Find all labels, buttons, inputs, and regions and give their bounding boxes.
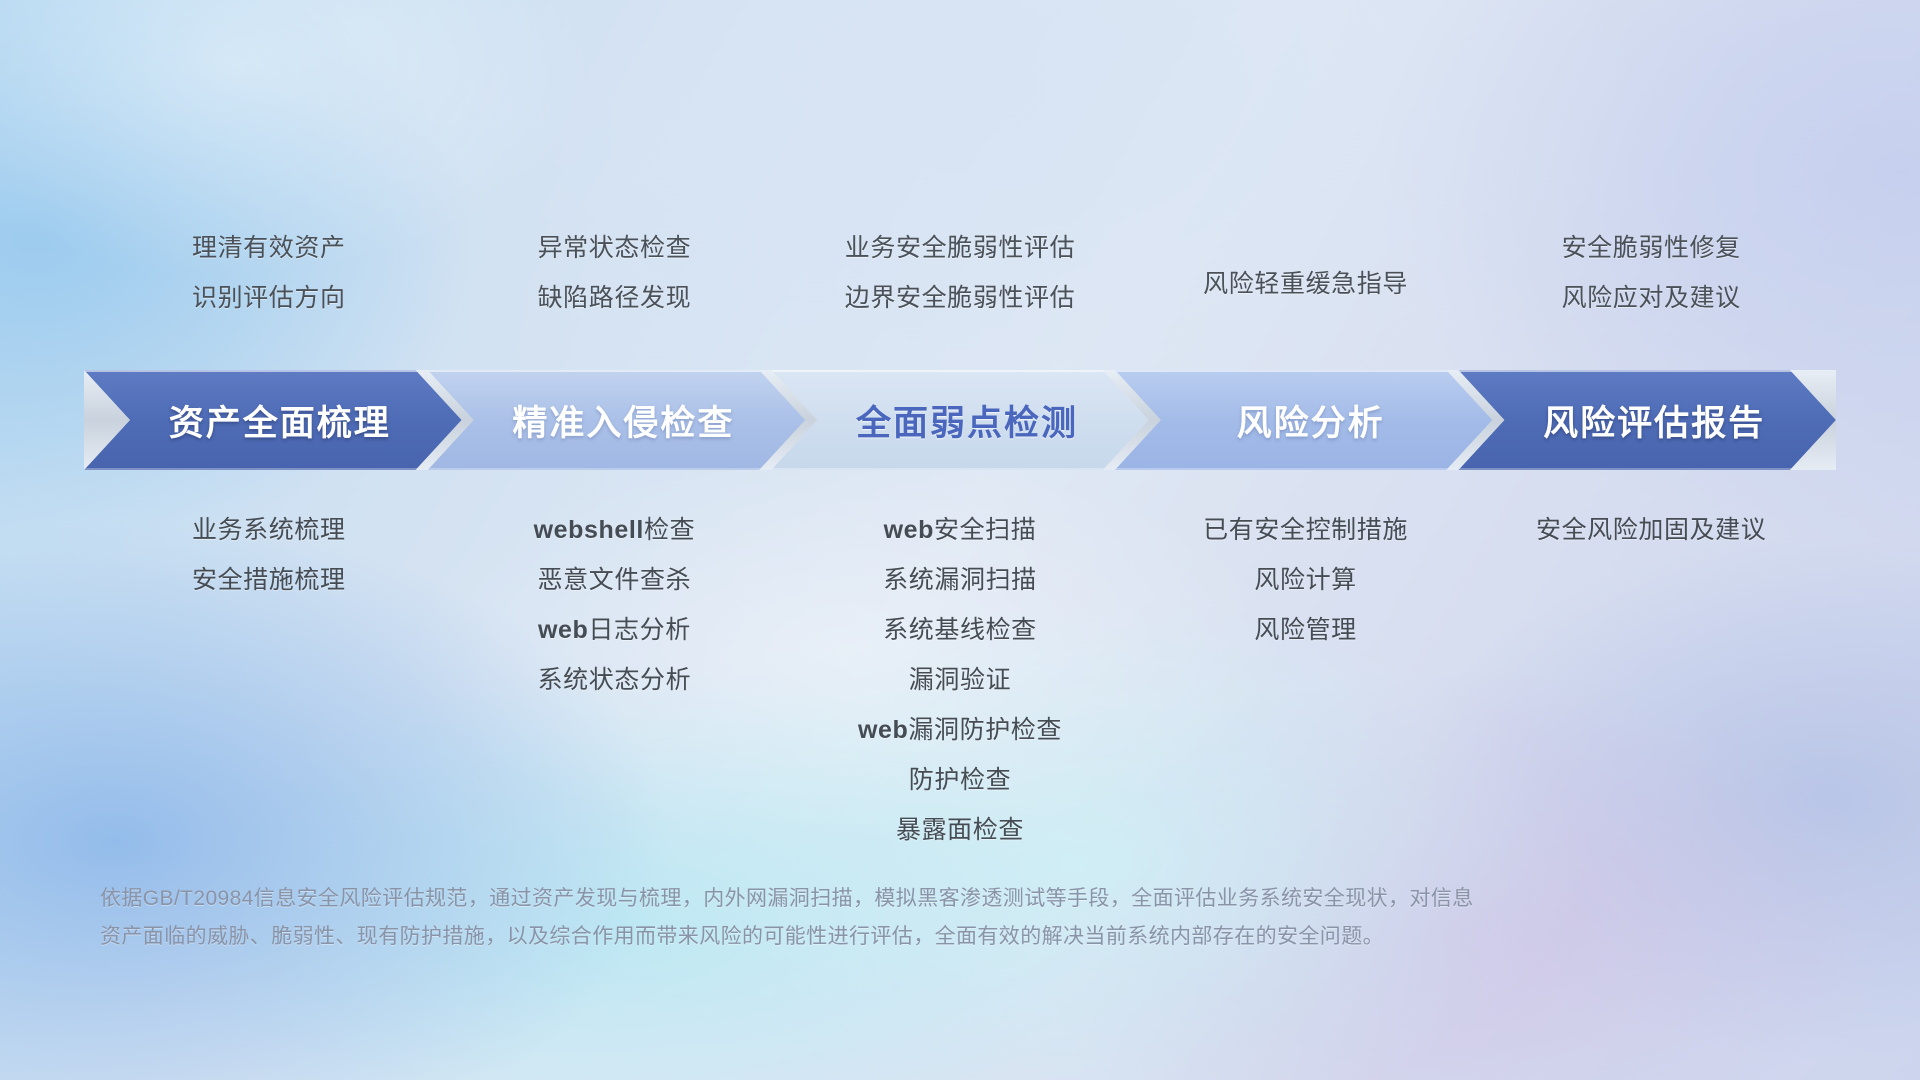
- caption: 安全脆弱性修复: [1562, 228, 1741, 264]
- caption: 安全措施梳理: [192, 560, 346, 596]
- caption: 理清有效资产: [192, 228, 346, 264]
- caption-rest: 安全措施梳理: [192, 566, 346, 594]
- stage-title: 风险分析: [1115, 395, 1493, 446]
- caption-rest: 漏洞验证: [909, 666, 1011, 694]
- footer-line-1: 依据GB/T20984信息安全风险评估规范，通过资产发现与梳理，内外网漏洞扫描，…: [100, 880, 1820, 918]
- caption: 风险管理: [1254, 610, 1356, 646]
- caption: 暴露面检查: [896, 810, 1024, 846]
- top-captions-stage-2: 异常状态检查 缺陷路径发现: [442, 228, 788, 314]
- bottom-captions-stage-2: webshell检查 恶意文件查杀 web日志分析 系统状态分析: [442, 510, 788, 696]
- footer-line-2: 资产面临的威胁、脆弱性、现有防护措施，以及综合作用而带来风险的可能性进行评估，全…: [100, 918, 1820, 956]
- top-captions-stage-4: 风险轻重缓急指导: [1133, 228, 1479, 314]
- caption: 异常状态检查: [538, 228, 692, 264]
- caption-rest: 防护检查: [909, 766, 1011, 794]
- caption-rest: 安全扫描: [934, 516, 1036, 544]
- top-captions-stage-5: 安全脆弱性修复 风险应对及建议: [1478, 228, 1824, 314]
- caption: 已有安全控制措施: [1203, 510, 1408, 546]
- caption-rest: 漏洞防护检查: [908, 716, 1062, 744]
- stage-title: 精准入侵检查: [428, 395, 806, 446]
- caption-mono: web: [884, 516, 934, 544]
- caption: web日志分析: [538, 610, 691, 646]
- stage-title: 全面弱点检测: [771, 395, 1149, 446]
- caption-rest: 系统状态分析: [538, 666, 692, 694]
- caption-rest: 业务系统梳理: [192, 516, 346, 544]
- process-arrow-banner: 资产全面梳理 精准入侵检查 全面弱点检测 风险分析 风险评估报告: [0, 370, 1920, 470]
- stage-arrow-asset-inventory[interactable]: 资产全面梳理: [84, 370, 462, 470]
- caption: 系统基线检查: [883, 610, 1037, 646]
- caption: 风险轻重缓急指导: [1203, 264, 1408, 300]
- stage-arrow-weakness-detection[interactable]: 全面弱点检测: [771, 370, 1149, 470]
- caption: 业务安全脆弱性评估: [845, 228, 1075, 264]
- footer-description: 依据GB/T20984信息安全风险评估规范，通过资产发现与梳理，内外网漏洞扫描，…: [100, 880, 1820, 956]
- caption-rest: 已有安全控制措施: [1203, 516, 1408, 544]
- caption: 缺陷路径发现: [538, 278, 692, 314]
- stage-arrow-risk-report[interactable]: 风险评估报告: [1458, 370, 1836, 470]
- caption: webshell检查: [534, 510, 696, 546]
- bottom-captions-stage-1: 业务系统梳理 安全措施梳理: [96, 510, 442, 596]
- caption: 边界安全脆弱性评估: [845, 278, 1075, 314]
- caption-rest: 风险计算: [1254, 566, 1356, 594]
- caption: web安全扫描: [884, 510, 1037, 546]
- caption-rest: 系统基线检查: [883, 616, 1037, 644]
- top-captions-row: 理清有效资产 识别评估方向 异常状态检查 缺陷路径发现 业务安全脆弱性评估 边界…: [0, 228, 1920, 314]
- caption: 风险计算: [1254, 560, 1356, 596]
- caption: 识别评估方向: [192, 278, 346, 314]
- stage-title: 资产全面梳理: [84, 395, 462, 446]
- caption: 系统漏洞扫描: [883, 560, 1037, 596]
- bottom-captions-stage-3: web安全扫描 系统漏洞扫描 系统基线检查 漏洞验证 web漏洞防护检查 防护检…: [787, 510, 1133, 846]
- caption-mono: web: [538, 616, 588, 644]
- caption: 业务系统梳理: [192, 510, 346, 546]
- top-captions-stage-1: 理清有效资产 识别评估方向: [96, 228, 442, 314]
- bottom-captions-stage-4: 已有安全控制措施 风险计算 风险管理: [1133, 510, 1479, 646]
- caption-rest: 风险管理: [1254, 616, 1356, 644]
- bottom-captions-row: 业务系统梳理 安全措施梳理 webshell检查 恶意文件查杀 web日志分析 …: [0, 510, 1920, 846]
- infographic-canvas: 理清有效资产 识别评估方向 异常状态检查 缺陷路径发现 业务安全脆弱性评估 边界…: [0, 0, 1920, 1080]
- caption: 防护检查: [909, 760, 1011, 796]
- caption-rest: 安全风险加固及建议: [1536, 516, 1766, 544]
- caption-mono: webshell: [534, 516, 644, 544]
- caption-rest: 日志分析: [588, 616, 690, 644]
- caption-mono: web: [858, 716, 908, 744]
- stage-arrow-risk-analysis[interactable]: 风险分析: [1115, 370, 1493, 470]
- caption: web漏洞防护检查: [858, 710, 1062, 746]
- bottom-captions-stage-5: 安全风险加固及建议: [1478, 510, 1824, 546]
- caption: 漏洞验证: [909, 660, 1011, 696]
- caption-rest: 恶意文件查杀: [538, 566, 692, 594]
- caption: 风险应对及建议: [1562, 278, 1741, 314]
- caption-rest: 系统漏洞扫描: [883, 566, 1037, 594]
- caption: 恶意文件查杀: [538, 560, 692, 596]
- caption: 系统状态分析: [538, 660, 692, 696]
- caption: 安全风险加固及建议: [1536, 510, 1766, 546]
- stage-title: 风险评估报告: [1458, 395, 1836, 446]
- top-captions-stage-3: 业务安全脆弱性评估 边界安全脆弱性评估: [787, 228, 1133, 314]
- caption-rest: 暴露面检查: [896, 816, 1024, 844]
- stage-arrow-intrusion-check[interactable]: 精准入侵检查: [428, 370, 806, 470]
- caption-rest: 检查: [644, 516, 695, 544]
